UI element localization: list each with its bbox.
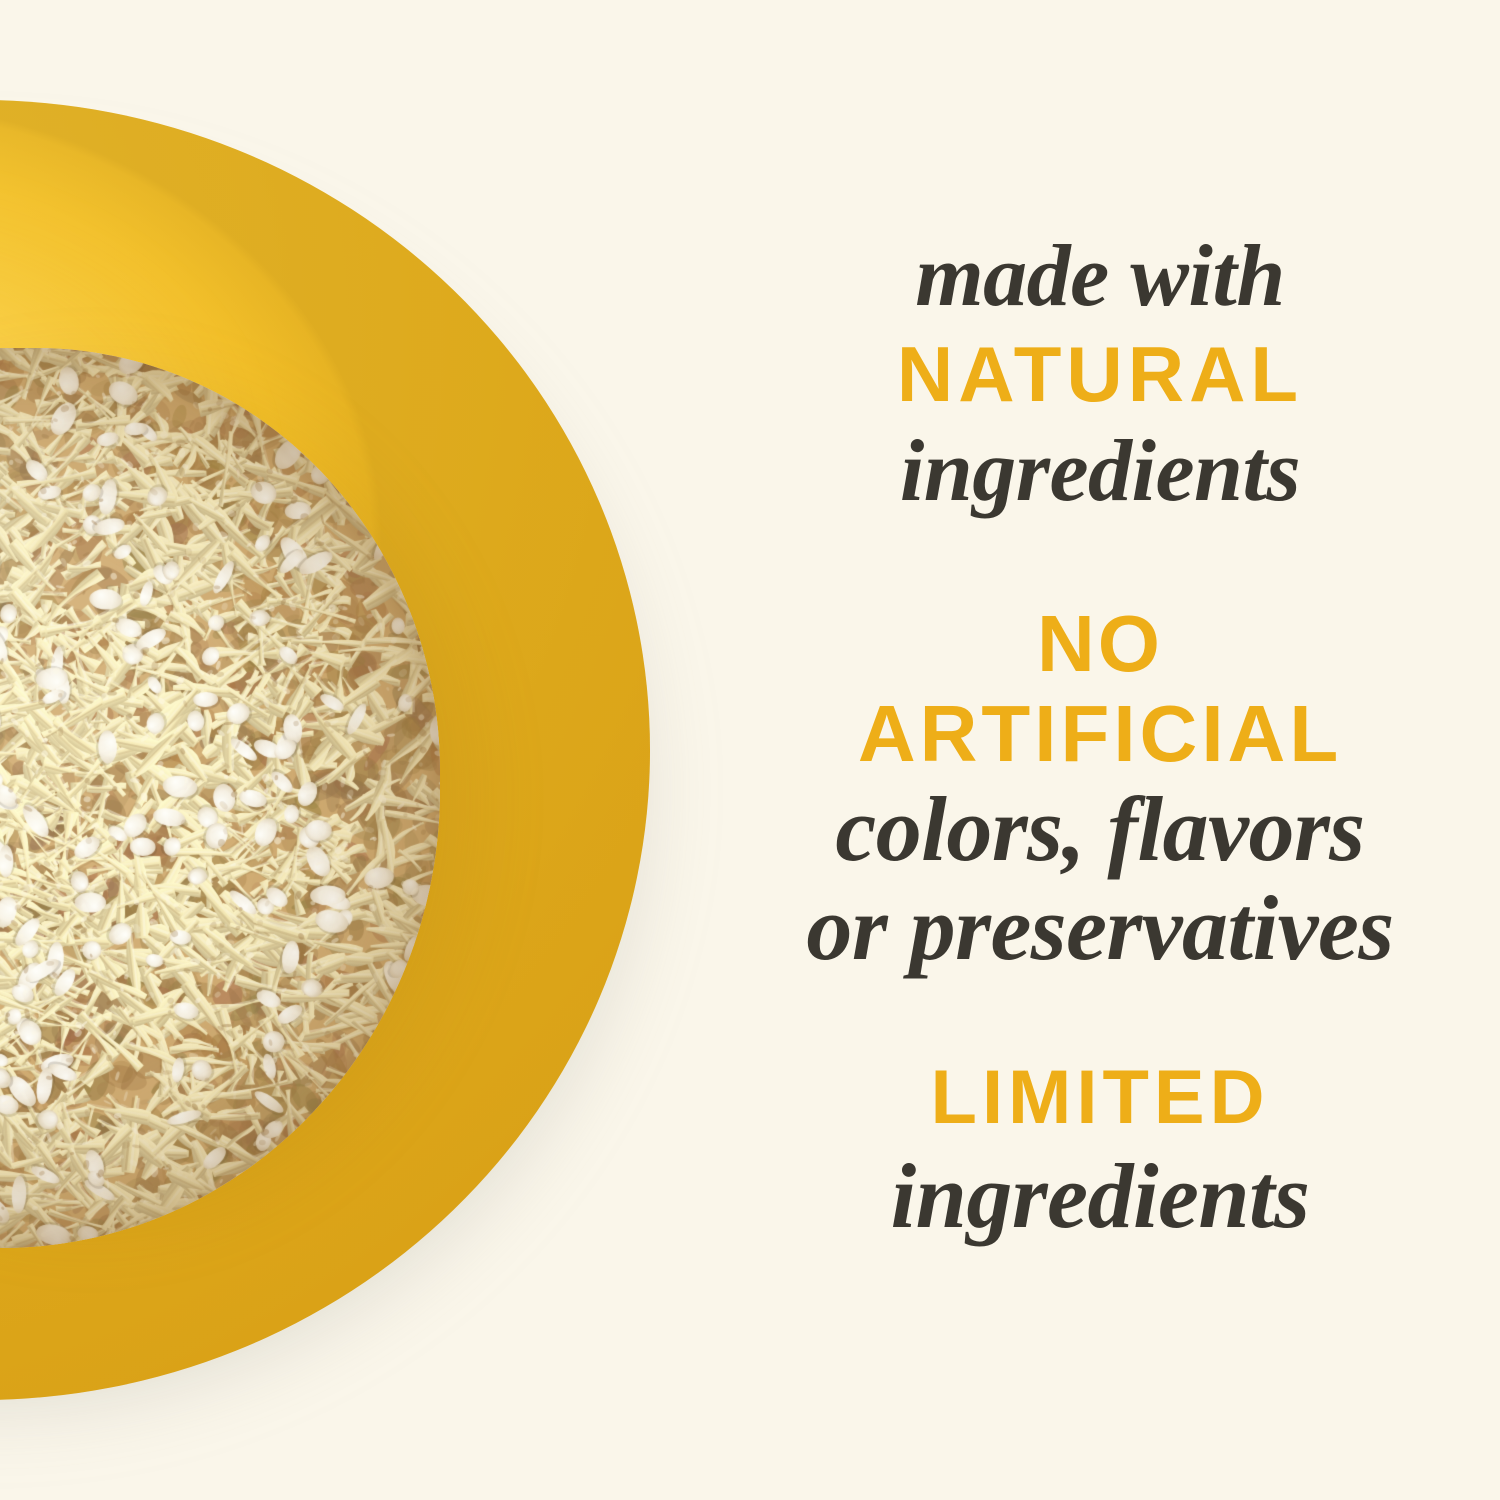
shredded-chicken-and-rice [0, 348, 440, 1248]
claim-limited-line-1: LIMITED [700, 1052, 1500, 1144]
claim-no-artificial-line-4: or preservatives [700, 878, 1500, 978]
product-claims-banner: made with NATURAL ingredients NO ARTIFIC… [0, 0, 1500, 1500]
claim-natural: made with NATURAL ingredients [700, 228, 1500, 522]
claims-column: made with NATURAL ingredients NO ARTIFIC… [700, 0, 1500, 1500]
food-texture [0, 348, 440, 1248]
claim-no-artificial-line-1: NO [700, 600, 1500, 688]
claim-limited-line-2: ingredients [700, 1144, 1500, 1248]
claim-natural-line-3: ingredients [700, 422, 1500, 522]
claim-no-artificial-line-3: colors, flavors [700, 780, 1500, 878]
claim-no-artificial: NO ARTIFICIAL colors, flavors or preserv… [700, 600, 1500, 978]
claim-natural-line-1: made with [700, 228, 1500, 326]
claim-natural-line-2: NATURAL [700, 326, 1500, 422]
claim-limited: LIMITED ingredients [700, 1052, 1500, 1248]
claim-no-artificial-line-2: ARTIFICIAL [700, 688, 1500, 780]
product-photo [0, 0, 760, 1500]
